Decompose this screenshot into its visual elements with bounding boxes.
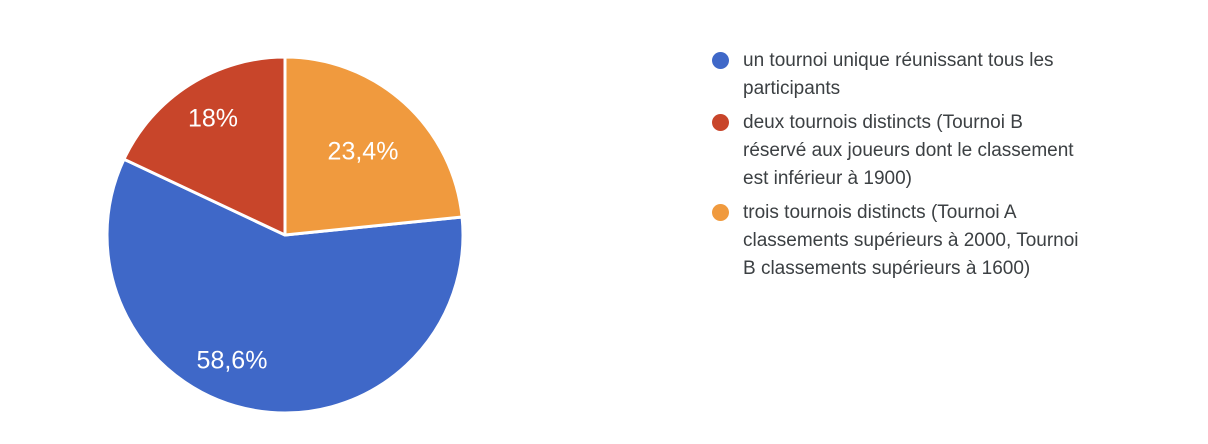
pie-slice-value-label-orange: 23,4% [328,138,399,166]
legend-item-label: deux tournois distincts (Tournoi B réser… [743,109,1074,193]
pie-slice-value-label-red: 18% [188,105,238,133]
legend-circle-marker-icon [712,204,729,221]
legend-item-trois-tournois-distincts[interactable]: trois tournois distincts (Tournoi A clas… [712,199,1192,283]
legend-item-label: trois tournois distincts (Tournoi A clas… [743,199,1079,283]
legend-circle-marker-icon [712,52,729,69]
chart-legend: un tournoi unique réunissant tous les pa… [712,47,1192,289]
legend-item-un-tournoi-unique[interactable]: un tournoi unique réunissant tous les pa… [712,47,1192,103]
legend-item-label: un tournoi unique réunissant tous les pa… [743,47,1054,103]
pie-chart-figure: 58,6% 18% 23,4% un tournoi unique réunis… [0,0,1208,444]
legend-item-deux-tournois-distincts[interactable]: deux tournois distincts (Tournoi B réser… [712,109,1192,193]
pie-slice-value-label-blue: 58,6% [197,347,268,375]
legend-circle-marker-icon [712,114,729,131]
pie-chart-plot-area: 58,6% 18% 23,4% [0,0,700,444]
pie-chart-svg: 58,6% 18% 23,4% [0,0,700,444]
pie-slices [107,57,463,413]
